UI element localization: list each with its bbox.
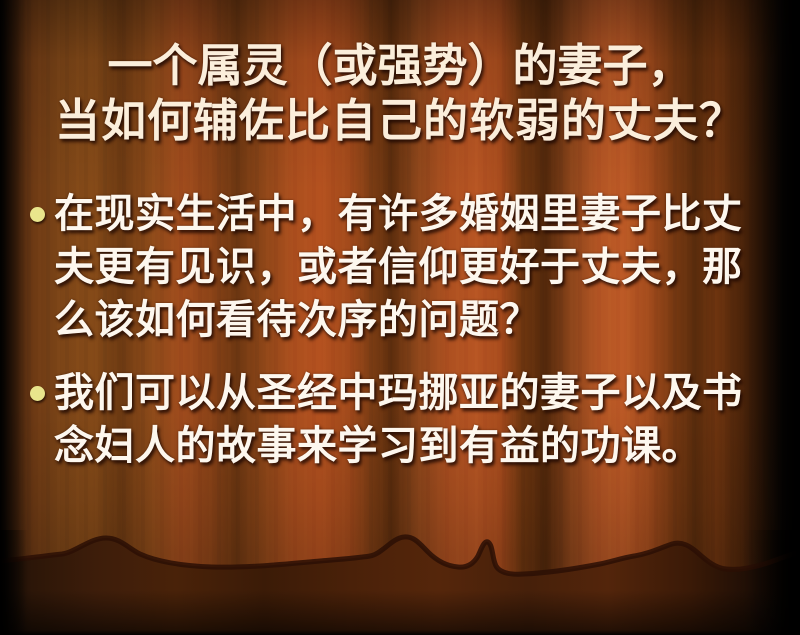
slide-bullet-list: 在现实生活中，有许多婚姻里妻子比丈夫更有见识，或者信仰更好于丈夫，那么该如何看待… xyxy=(30,188,778,493)
bullet-dot-icon xyxy=(30,386,45,401)
slide-title-line-1: 一个属灵（或强势）的妻子， xyxy=(0,38,800,93)
slide-content: 一个属灵（或强势）的妻子， 当如何辅佐比自己的软弱的丈夫？ 在现实生活中，有许多… xyxy=(0,0,800,635)
list-item: 我们可以从圣经中玛挪亚的妻子以及书念妇人的故事来学习到有益的功课。 xyxy=(30,367,778,473)
presentation-slide: 一个属灵（或强势）的妻子， 当如何辅佐比自己的软弱的丈夫？ 在现实生活中，有许多… xyxy=(0,0,800,635)
slide-title: 一个属灵（或强势）的妻子， 当如何辅佐比自己的软弱的丈夫？ xyxy=(0,38,800,148)
slide-title-line-2: 当如何辅佐比自己的软弱的丈夫？ xyxy=(0,93,800,148)
list-item: 在现实生活中，有许多婚姻里妻子比丈夫更有见识，或者信仰更好于丈夫，那么该如何看待… xyxy=(30,188,778,347)
bullet-dot-icon xyxy=(30,207,45,222)
bullet-text: 在现实生活中，有许多婚姻里妻子比丈夫更有见识，或者信仰更好于丈夫，那么该如何看待… xyxy=(54,188,778,347)
bullet-text: 我们可以从圣经中玛挪亚的妻子以及书念妇人的故事来学习到有益的功课。 xyxy=(54,367,778,473)
